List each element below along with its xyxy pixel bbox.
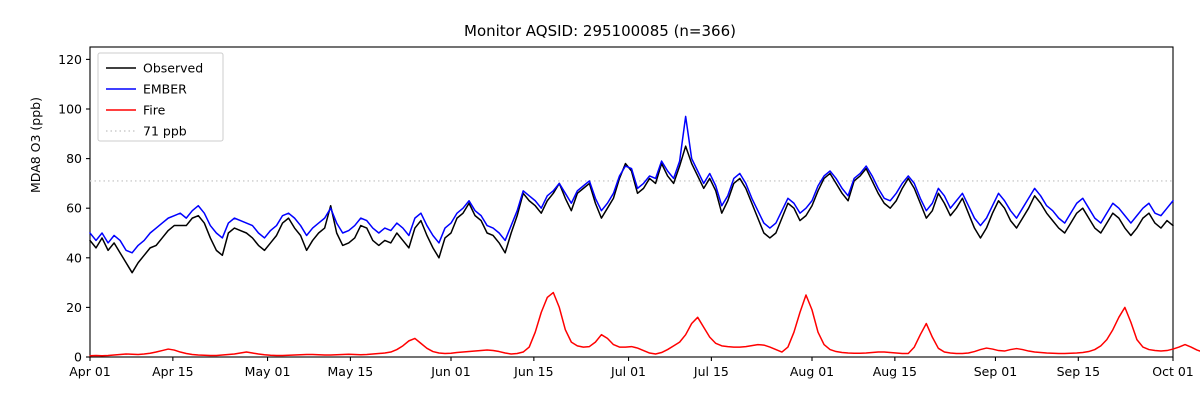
legend-label-71-ppb: 71 ppb [143, 124, 187, 139]
x-tick-label: Sep 01 [974, 364, 1017, 379]
legend-label-observed: Observed [143, 61, 203, 76]
series-line-fire [90, 293, 1200, 356]
y-tick-label: 40 [66, 250, 82, 265]
x-tick-label: Aug 01 [790, 364, 834, 379]
y-tick-label: 0 [74, 350, 82, 365]
x-tick-label: Jul 15 [693, 364, 729, 379]
y-tick-label: 20 [66, 300, 82, 315]
y-tick-label: 100 [58, 102, 82, 117]
legend-label-fire: Fire [143, 103, 166, 118]
x-tick-label: Sep 15 [1057, 364, 1100, 379]
x-tick-label: Aug 15 [873, 364, 917, 379]
plot-frame [90, 47, 1173, 357]
series-line-ember [90, 116, 1173, 252]
x-tick-label: Jun 01 [430, 364, 470, 379]
plot-area: 020406080100120Apr 01Apr 15May 01May 15J… [0, 0, 1200, 400]
x-tick-label: Jun 15 [513, 364, 553, 379]
figure: Monitor AQSID: 295100085 (n=366) MDA8 O3… [0, 0, 1200, 400]
x-tick-label: Apr 01 [69, 364, 111, 379]
legend-label-ember: EMBER [143, 82, 187, 97]
y-tick-label: 60 [66, 201, 82, 216]
x-tick-label: Jul 01 [610, 364, 646, 379]
x-tick-label: Apr 15 [152, 364, 194, 379]
y-tick-label: 80 [66, 151, 82, 166]
x-tick-label: May 15 [328, 364, 374, 379]
x-tick-label: May 01 [245, 364, 291, 379]
x-tick-label: Oct 01 [1152, 364, 1194, 379]
y-tick-label: 120 [58, 52, 82, 67]
